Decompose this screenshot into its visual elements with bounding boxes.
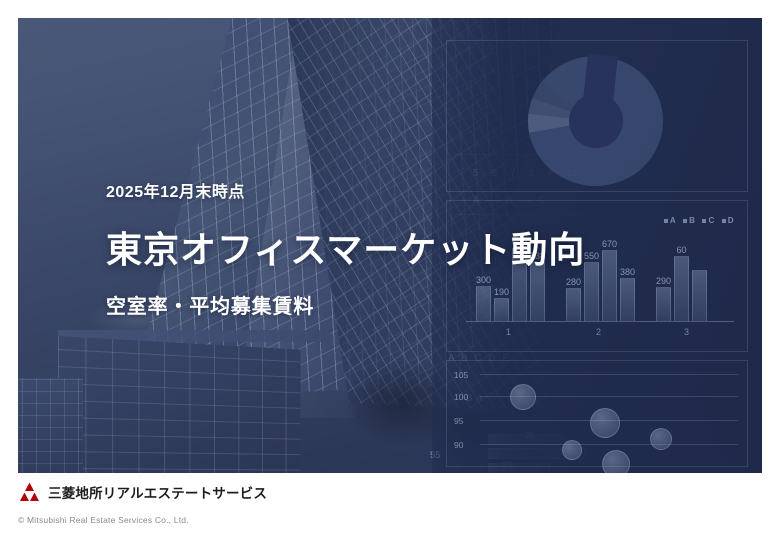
bar: [692, 270, 707, 321]
bar: 670: [602, 250, 617, 321]
bar-value: 60: [676, 245, 686, 255]
title-slide: 5 6 7 8 9 10 A B C A B C D E B A 35 45: [0, 0, 780, 540]
slide-kicker: 2025年12月末時点: [106, 178, 585, 202]
legend-swatch-icon: [664, 219, 668, 223]
mitsubishi-three-diamonds-icon: [18, 482, 41, 502]
legend-a: A: [670, 216, 676, 225]
bar-value: 380: [620, 267, 635, 277]
overlay-donut-chart: [528, 56, 663, 186]
legend-swatch-icon: [683, 219, 687, 223]
bar-value: 550: [584, 251, 599, 261]
page-title: 東京オフィスマーケット動向: [106, 229, 585, 270]
bar: 290: [656, 287, 671, 321]
slide-subtitle: 空室率・平均募集賃料: [106, 290, 585, 319]
bar: 380: [620, 278, 635, 321]
bar: 60: [674, 256, 689, 321]
donut-notch: [581, 54, 618, 123]
bubble-point: [602, 450, 630, 473]
legend-swatch-icon: [702, 219, 706, 223]
overlay-bubble-chart: 105 100 95 90: [454, 370, 744, 462]
bar: 550: [584, 262, 599, 321]
company-name: 三菱地所リアルエステートサービス: [48, 482, 267, 502]
legend-d: D: [728, 216, 734, 225]
bubble-ytick: 90: [454, 440, 463, 450]
legend-b: B: [689, 216, 695, 225]
bar-chart-baseline: [466, 321, 734, 322]
brand-lockup: 三菱地所リアルエステートサービス: [18, 482, 762, 502]
bar-chart-xtick: 1: [506, 327, 511, 337]
footer: 三菱地所リアルエステートサービス © Mitsubishi Real Estat…: [18, 482, 762, 525]
legend-swatch-icon: [722, 219, 726, 223]
hero-text-block: 2025年12月末時点 東京オフィスマーケット動向 空室率・平均募集賃料: [106, 178, 585, 319]
bar-chart-legend: A B C D: [664, 216, 734, 225]
bubble-point: [650, 428, 672, 450]
far-left-building: [18, 378, 83, 473]
bubble-ytick: 100: [454, 392, 468, 402]
bubble-point: [510, 384, 536, 410]
bubble-point: [562, 440, 582, 460]
left-building-facade: [58, 336, 300, 473]
copyright-text: © Mitsubishi Real Estate Services Co., L…: [18, 515, 762, 525]
bubble-ytick: 105: [454, 370, 468, 380]
hero-image: 5 6 7 8 9 10 A B C A B C D E B A 35 45: [18, 18, 762, 473]
bar-value: 290: [656, 276, 671, 286]
bubble-ytick: 95: [454, 416, 463, 426]
bar-chart-xtick: 2: [596, 327, 601, 337]
bubble-point: [590, 408, 620, 438]
bar-value: 670: [602, 239, 617, 249]
legend-c: C: [708, 216, 714, 225]
bar-chart-xtick: 3: [684, 327, 689, 337]
